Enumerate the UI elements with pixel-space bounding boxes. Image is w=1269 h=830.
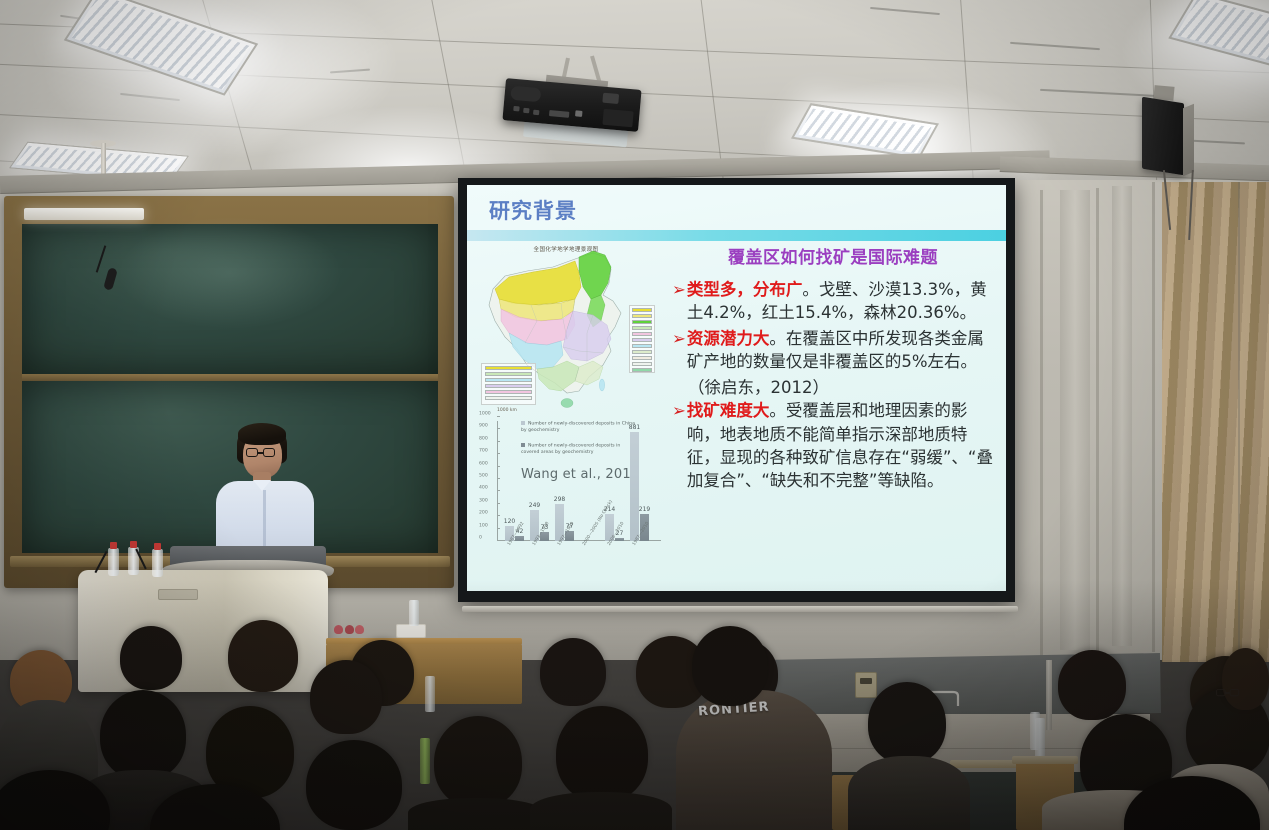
bullet-citation: （徐启东，2012） <box>672 376 994 399</box>
chart-bar-label: 298 <box>554 496 565 503</box>
wall-speaker <box>1142 97 1184 176</box>
legend-label: Number of newly-discovered deposits in C… <box>521 422 635 433</box>
water-bottle[interactable] <box>409 600 419 626</box>
blackboard-divider <box>22 374 438 381</box>
chart-y-tickmark <box>497 490 500 491</box>
water-bottle[interactable] <box>152 549 163 577</box>
audience-head <box>306 740 402 830</box>
bullet-text-3: 找矿难度大。受覆盖层和地理因素的影响，地表地质不能简单指示深部地质特征，显现的各… <box>687 399 994 493</box>
chart-y-tickmark <box>497 428 500 429</box>
audience-head <box>692 626 768 706</box>
chart-y-tickmark <box>497 478 500 479</box>
bullet-marker-icon: ➢ <box>672 278 686 325</box>
legend-label: Number of newly-discovered deposits in c… <box>521 444 620 455</box>
chart-bar-label: 881 <box>629 424 640 431</box>
audience-head <box>540 638 606 706</box>
map-scale-label: 1000 km <box>497 408 517 413</box>
chart-legend-item-1: Number of newly-discovered deposits in C… <box>521 421 639 434</box>
flower-decoration <box>334 620 364 634</box>
audience-torso <box>848 756 970 830</box>
water-bottle-green[interactable] <box>420 738 430 784</box>
legend-swatch <box>521 421 525 425</box>
window-curtain <box>1162 182 1269 662</box>
slide-title-divider <box>467 230 1006 241</box>
bar-chart: 01002003004005006007008009001000 Number … <box>475 417 665 569</box>
wall-column <box>1060 190 1090 650</box>
chart-citation: Wang et al., 2016 <box>521 467 639 482</box>
ceiling-light-panel <box>64 0 258 96</box>
projection-screen[interactable]: 研究背景 全国化学地学地理景观图 <box>458 178 1015 602</box>
audience-head <box>310 660 382 734</box>
presenter-hair-top <box>238 423 286 445</box>
blackboard-light <box>24 208 144 220</box>
screen-bottom-rail <box>462 606 1018 612</box>
water-bottle[interactable] <box>1035 718 1045 760</box>
chart-legend-item-2: Number of newly-discovered deposits in c… <box>521 443 639 456</box>
water-bottle[interactable] <box>108 548 119 576</box>
bullet-item-1: ➢ 类型多，分布广。戈壁、沙漠13.3%，黄土4.2%，红土15.4%，森林20… <box>672 278 994 325</box>
tissue-box <box>396 624 426 638</box>
chart-y-tickmark <box>497 503 500 504</box>
wall-column <box>1112 186 1132 646</box>
audience-head <box>1222 648 1269 710</box>
blackboard-panel-upper <box>22 224 438 374</box>
ceiling-light-panel <box>1168 0 1269 72</box>
bullet-keyword-3: 找矿难度大 <box>687 401 770 420</box>
bullet-marker-icon: ➢ <box>672 327 686 374</box>
slide-text-block: 覆盖区如何找矿是国际难题 ➢ 类型多，分布广。戈壁、沙漠13.3%，黄土4.2%… <box>672 243 994 583</box>
bullet-text-1: 类型多，分布广。戈壁、沙漠13.3%，黄土4.2%，红土15.4%，森林20.3… <box>687 278 994 325</box>
chart-bar-label: 120 <box>504 518 515 525</box>
desk <box>1012 756 1078 764</box>
slide-content: 研究背景 全国化学地学地理景观图 <box>467 185 1006 591</box>
chart-y-tickmark <box>497 441 500 442</box>
audience-head <box>100 690 186 780</box>
chart-bar-label: 219 <box>639 506 650 513</box>
legend-swatch <box>521 443 525 447</box>
bullet-text-2: 资源潜力大。在覆盖区中所发现各类金属矿产地的数量仅是非覆盖区的5%左右。 <box>687 327 994 374</box>
audience-head <box>556 706 648 802</box>
chart-y-tickmark <box>497 466 500 467</box>
slide-heading: 覆盖区如何找矿是国际难题 <box>672 243 994 268</box>
slide-title: 研究背景 <box>489 195 577 225</box>
ceiling-light-panel <box>791 103 939 159</box>
chart-y-tickmark <box>497 540 500 541</box>
chart-y-tickmark <box>497 453 500 454</box>
map-legend-right <box>629 305 655 373</box>
audience-head <box>1058 650 1126 720</box>
chart-bar-label: 249 <box>529 502 540 509</box>
china-landscape-map: 全国化学地学地理景观图 <box>475 243 657 415</box>
audience-torso <box>408 798 544 830</box>
audience-head <box>434 716 522 808</box>
chart-bar <box>630 432 639 541</box>
audience-head <box>120 626 182 690</box>
audience-head <box>868 682 946 764</box>
bullet-keyword-2: 资源潜力大 <box>687 329 770 348</box>
audience-head <box>228 620 298 692</box>
chart-y-tickmark <box>497 416 500 417</box>
chart-y-tickmark <box>497 528 500 529</box>
bullet-keyword-1: 类型多，分布广 <box>687 280 803 299</box>
glasses-icon <box>246 448 278 458</box>
presenter-collar <box>253 480 271 491</box>
lecture-hall-photo: 研究背景 全国化学地学地理景观图 <box>0 0 1269 830</box>
map-legend-bottom <box>481 363 536 405</box>
bullet-item-2: ➢ 资源潜力大。在覆盖区中所发现各类金属矿产地的数量仅是非覆盖区的5%左右。 <box>672 327 994 374</box>
audience-torso <box>530 792 672 830</box>
water-bottle[interactable] <box>425 676 435 712</box>
bullet-item-3: ➢ 找矿难度大。受覆盖层和地理因素的影响，地表地质不能简单指示深部地质特征，显现… <box>672 399 994 493</box>
chart-y-tickmark <box>497 515 500 516</box>
glasses-icon <box>1216 689 1240 697</box>
bullet-marker-icon: ➢ <box>672 399 686 493</box>
wall-panel-seam <box>1046 660 1052 730</box>
podium-nameplate <box>158 589 198 600</box>
chart-y-axis <box>497 421 498 541</box>
wall-outlet <box>855 672 877 698</box>
